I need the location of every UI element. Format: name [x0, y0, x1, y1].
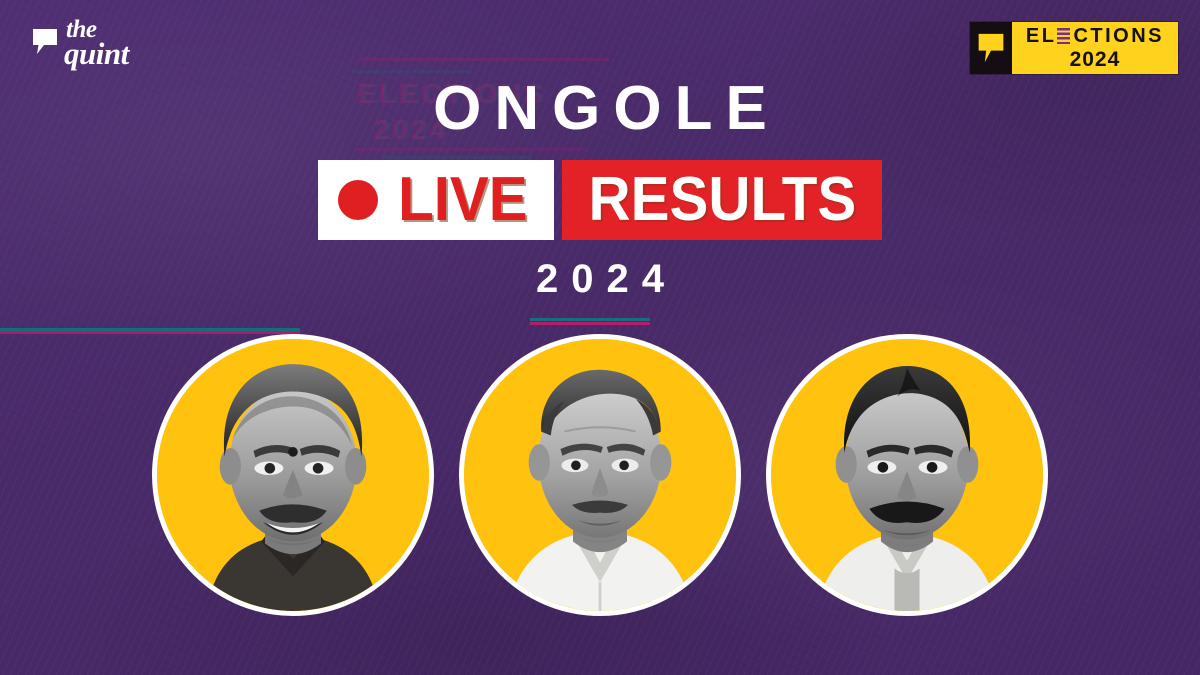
the-quint-wordmark: the quint: [66, 20, 129, 66]
striped-e-icon: [1057, 28, 1070, 44]
candidate-portrait-2[interactable]: [459, 334, 741, 616]
speech-bubble-icon: [30, 26, 60, 56]
speech-bubble-icon: [976, 31, 1006, 65]
candidate-portrait-1[interactable]: [152, 334, 434, 616]
glitch-rule-center: [530, 318, 650, 327]
live-red-dot-icon: [338, 180, 378, 220]
results-label: RESULTS: [588, 169, 856, 231]
logo-line-quint: quint: [64, 41, 129, 66]
live-badge: LIVE: [318, 160, 554, 240]
badge-logo-block: [970, 22, 1012, 74]
badge-year-label: 2024: [1070, 49, 1121, 70]
poster-canvas: the quint EL CTIONS 2024 ELECTIONS 2024: [0, 0, 1200, 675]
badge-elections-label: EL CTIONS: [1026, 26, 1164, 46]
the-quint-logo[interactable]: the quint: [30, 20, 129, 66]
headline-year: 2024: [0, 257, 1200, 302]
constituency-title: ONGOLE: [0, 78, 1200, 140]
candidate-portrait-row: [0, 334, 1200, 616]
badge-elections-part2: CTIONS: [1073, 26, 1164, 46]
badge-elections-part1: EL: [1026, 26, 1057, 46]
elections-2024-badge[interactable]: EL CTIONS 2024: [970, 22, 1178, 74]
live-results-banner: LIVE RESULTS: [0, 160, 1200, 240]
candidate-portrait-3[interactable]: [766, 334, 1048, 616]
badge-text-block: EL CTIONS 2024: [1012, 22, 1178, 74]
live-label: LIVE: [398, 169, 528, 231]
results-badge: RESULTS: [562, 160, 883, 240]
